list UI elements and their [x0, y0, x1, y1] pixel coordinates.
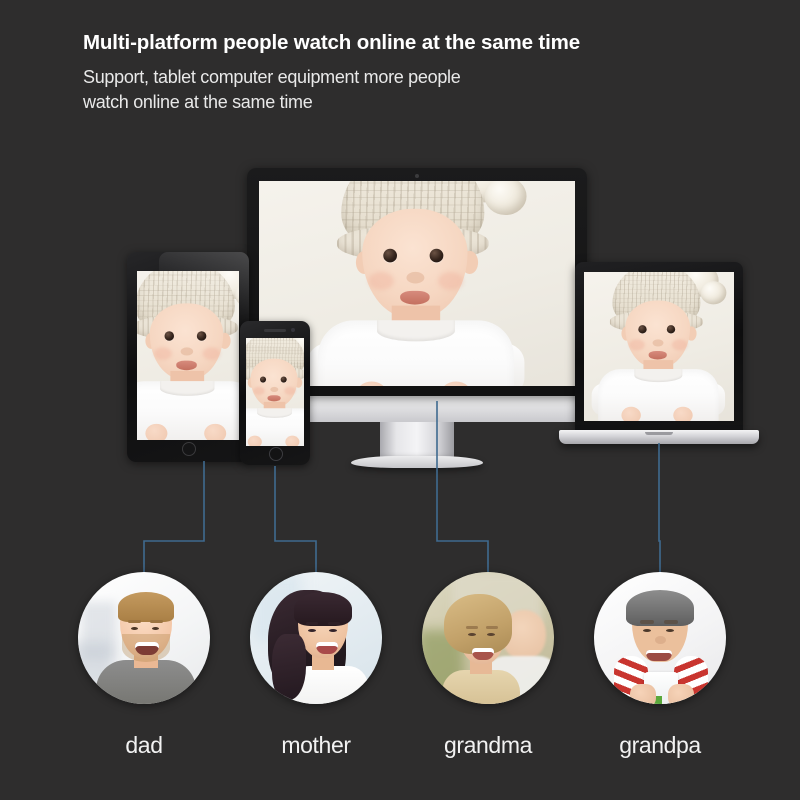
connector-line-dad [144, 461, 204, 572]
promo-banner: Multi-platform people watch online at th… [0, 0, 800, 800]
avatar-grandpa[interactable] [594, 572, 726, 704]
avatar-photo [78, 572, 210, 704]
avatar-label-grandpa: grandpa [594, 732, 726, 759]
avatar-grandma[interactable] [422, 572, 554, 704]
avatar-label-dad: dad [78, 732, 210, 759]
avatar-photo [422, 572, 554, 704]
avatar-label-grandma: grandma [422, 732, 554, 759]
avatar-label-mother: mother [250, 732, 382, 759]
avatar-dad[interactable] [78, 572, 210, 704]
connector-line-grandpa [659, 443, 660, 572]
avatar-photo [594, 572, 726, 704]
connector-line-mother [275, 466, 316, 572]
avatar-mother[interactable] [250, 572, 382, 704]
avatar-photo [250, 572, 382, 704]
connector-line-grandma [437, 401, 488, 572]
